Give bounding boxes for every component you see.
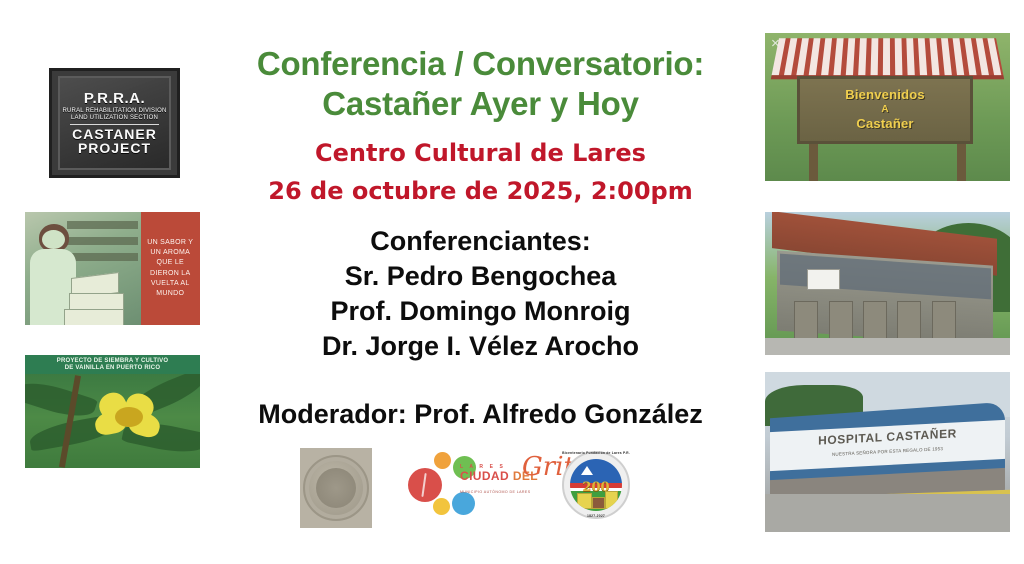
bicentennial-top-text: Bicentenario Fundación de Lares P.R. <box>562 451 630 455</box>
sponsor-logos: L A R E S CIUDAD DEL MUNICIPIO AUTÓNOMO … <box>290 448 640 532</box>
speaker-name: Sr. Pedro Bengochea <box>208 259 753 294</box>
welcome-sign-line1: Bienvenidos <box>845 87 925 103</box>
grito-ciudad-word: CIUDAD <box>460 469 509 483</box>
road-shape <box>765 338 1010 355</box>
coffee-box-shape <box>64 309 124 325</box>
vanilla-caption-line2: DE VAINILLA EN PUERTO RICO <box>65 365 160 371</box>
coffee-photo-panel <box>25 212 141 325</box>
venue-text: Centro Cultural de Lares <box>208 139 753 168</box>
house-door-shape <box>897 301 921 340</box>
prra-castaner-project-sign: P.R.R.A. RURAL REHABILITATION DIVISION L… <box>49 68 180 178</box>
welcome-sign-line2: A <box>881 104 888 117</box>
speakers-heading: Conferenciantes: <box>208 224 753 259</box>
leaf-shape <box>25 375 97 424</box>
close-icon[interactable]: × <box>771 36 780 51</box>
sign-post-shape <box>809 140 818 181</box>
event-poster: P.R.R.A. RURAL REHABILITATION DIVISION L… <box>0 0 1024 564</box>
parking-lot-shape <box>765 494 1010 532</box>
logo-dot-yellow <box>433 498 450 515</box>
tiled-roof-shape <box>770 39 1004 81</box>
title-line1: Conferencia / Conversatorio: <box>257 45 704 82</box>
poster-text-block: Conferencia / Conversatorio: Castañer Ay… <box>208 44 753 431</box>
prra-sign-line1: P.R.R.A. <box>84 90 145 107</box>
star-icon <box>581 466 593 475</box>
university-seal-logo <box>300 448 372 528</box>
grito-tagline: MUNICIPIO AUTÓNOMO DE LARES <box>460 490 531 494</box>
coffee-bean-icon <box>408 468 442 502</box>
building-shape <box>592 497 605 509</box>
seal-outer-ring <box>303 455 369 521</box>
speaker-name: Dr. Jorge I. Vélez Arocho <box>208 329 753 364</box>
vanilla-caption-text: PROYECTO DE SIEMBRA Y CULTIVO DE VAINILL… <box>54 358 171 372</box>
building-shape <box>605 491 617 509</box>
prra-sign-plate: P.R.R.A. RURAL REHABILITATION DIVISION L… <box>58 76 171 170</box>
speaker-name: Prof. Domingo Monroig <box>208 294 753 329</box>
house-placard-shape <box>807 269 841 290</box>
lares-ciudad-del-grito-logo: L A R E S CIUDAD DEL MUNICIPIO AUTÓNOMO … <box>400 448 540 520</box>
coffee-packing-poster: UN SABOR Y UN AROMA QUE LE DIERON LA VUE… <box>25 212 200 325</box>
logo-dot-orange <box>434 452 451 469</box>
shelf-shape <box>67 237 139 245</box>
speakers-block: Conferenciantes: Sr. Pedro Bengochea Pro… <box>208 224 753 364</box>
welcome-sign-board: Bienvenidos A Castañer <box>797 76 973 144</box>
bicentennial-bottom-text: 1827-2027 <box>562 514 630 518</box>
title-line2: Castañer Ayer y Hoy <box>322 85 639 122</box>
building-shape <box>577 493 591 509</box>
bienvenidos-a-castaner-sign: Bienvenidos A Castañer × <box>765 33 1010 181</box>
house-door-shape <box>932 301 956 340</box>
house-door-shape <box>794 301 818 340</box>
coffee-caption-text: UN SABOR Y UN AROMA QUE LE DIERON LA VUE… <box>141 238 201 299</box>
prra-sign-line2: RURAL REHABILITATION DIVISION <box>62 108 166 114</box>
prra-sign-line4: CASTANER <box>72 127 157 142</box>
moderator-text: Moderador: Prof. Alfredo González <box>208 398 753 430</box>
coffee-caption-panel: UN SABOR Y UN AROMA QUE LE DIERON LA VUE… <box>141 212 201 325</box>
vanilla-caption-band: PROYECTO DE SIEMBRA Y CULTIVO DE VAINILL… <box>25 355 200 374</box>
shelf-shape <box>67 221 139 229</box>
logo-dot-blue <box>452 492 475 515</box>
prra-sign-divider <box>70 124 159 125</box>
hospital-castaner-photo: HOSPITAL CASTAÑER NUESTRA SEÑORA POR EST… <box>765 372 1010 532</box>
prra-sign-line3: LAND UTILIZATION SECTION <box>71 115 158 121</box>
seal-inner-disc <box>316 468 356 508</box>
vanilla-flower-shape <box>95 393 165 440</box>
prra-sign-line5: PROJECT <box>78 141 151 156</box>
date-time-text: 26 de octubre de 2025, 2:00pm <box>208 177 753 206</box>
bicentennial-shield: 200 <box>570 459 622 511</box>
flower-core-shape <box>115 407 143 427</box>
shelf-shape <box>67 253 139 261</box>
house-door-shape <box>829 301 853 340</box>
vanilla-project-poster: PROYECTO DE SIEMBRA Y CULTIVO DE VAINILL… <box>25 355 200 468</box>
lares-bicentennial-logo: Bicentenario Fundación de Lares P.R. 200… <box>562 448 630 522</box>
old-wooden-house-photo <box>765 212 1010 355</box>
vanilla-caption-line1: PROYECTO DE SIEMBRA Y CULTIVO <box>57 358 168 364</box>
sign-post-shape <box>957 140 966 181</box>
welcome-sign-line3: Castañer <box>856 116 913 132</box>
house-door-shape <box>863 301 887 340</box>
page-title: Conferencia / Conversatorio: Castañer Ay… <box>208 44 753 125</box>
